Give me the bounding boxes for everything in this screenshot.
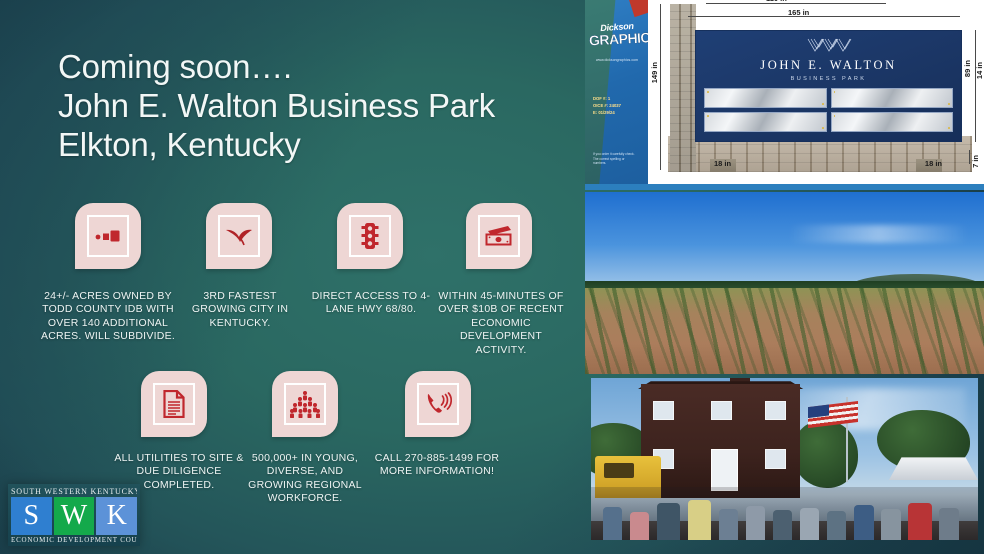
tenant-plate bbox=[831, 112, 954, 132]
vendor-spec-line-1: DOF #: 1 bbox=[593, 95, 621, 102]
dimension-label-base-gap: 7 in bbox=[971, 155, 980, 168]
feature-tile-utilities[interactable] bbox=[141, 371, 207, 437]
crowd-person bbox=[827, 511, 846, 540]
headline-line-3: Elkton, Kentucky bbox=[58, 125, 578, 164]
courthouse-window bbox=[765, 401, 786, 420]
dimension-line-top-inner bbox=[706, 3, 886, 4]
dimension-line-left-height bbox=[660, 4, 661, 170]
dickson-graphics-banner: Dickson GRAPHICS www.dicksongraphics.com… bbox=[585, 0, 648, 185]
stone-pillar bbox=[670, 4, 696, 172]
sign-rendering-image: Dickson GRAPHICS www.dicksongraphics.com… bbox=[585, 0, 984, 190]
render-bottom-band bbox=[585, 184, 984, 190]
feature-tile-workforce[interactable] bbox=[272, 371, 338, 437]
crowd-person bbox=[854, 505, 873, 540]
feature-caption-acres: 24+/- ACRES OWNED BY TODD COUNTY IDB WIT… bbox=[34, 290, 182, 344]
feature-tile-growth[interactable] bbox=[206, 203, 272, 269]
courthouse-window bbox=[711, 401, 732, 420]
people-group-icon bbox=[284, 383, 326, 425]
tenant-plate-grid bbox=[696, 82, 961, 132]
vendor-spec-line-2: OICE #: 24037 bbox=[593, 102, 621, 109]
feature-caption-growth: 3RD FASTEST GROWING CITY IN KENTUCKY. bbox=[176, 290, 304, 330]
crowd-person bbox=[908, 503, 931, 540]
phone-ringing-icon bbox=[417, 383, 459, 425]
crowd-person bbox=[746, 506, 765, 540]
vendor-spec-line-3: E: 01/29/24 bbox=[593, 109, 621, 116]
feature-caption-investment: WITHIN 45-MINUTES OF OVER $10B OF RECENT… bbox=[437, 290, 565, 357]
swk-letter-w: W bbox=[54, 497, 95, 535]
headline-line-1: Coming soon…. bbox=[58, 47, 578, 86]
page-title: Coming soon…. John E. Walton Business Pa… bbox=[58, 47, 578, 164]
crowd-person bbox=[719, 509, 738, 540]
dimension-label-top-inner: 110 in bbox=[766, 0, 787, 3]
site-field-photo bbox=[585, 192, 984, 374]
feature-tile-highway[interactable] bbox=[337, 203, 403, 269]
sign-face: JOHN E. WALTON BUSINESS PARK bbox=[695, 30, 962, 142]
swk-logo-bottom-text: ECONOMIC DEVELOPMENT COUNCIL bbox=[11, 535, 137, 546]
vendor-spec-block: DOF #: 1 OICE #: 24037 E: 01/29/24 bbox=[593, 95, 621, 116]
crowd-person bbox=[800, 508, 819, 540]
crowd-person bbox=[881, 509, 900, 540]
money-cash-icon bbox=[478, 215, 520, 257]
dickson-graphics-logo: Dickson GRAPHICS bbox=[589, 22, 645, 47]
tenant-plate bbox=[704, 112, 827, 132]
tenant-plate bbox=[831, 88, 954, 108]
dimension-label-right-detail: 14 in bbox=[975, 62, 984, 79]
festival-tree bbox=[792, 420, 858, 488]
dimension-line-top-outer bbox=[688, 16, 960, 17]
sign-elevation-drawing: JOHN E. WALTON BUSINESS PARK 110 in 165 … bbox=[648, 0, 984, 190]
feature-caption-contact: CALL 270-885-1499 FOR MORE INFORMATION! bbox=[374, 452, 500, 479]
swk-logo[interactable]: SOUTH WESTERN KENTUCKY S W K ECONOMIC DE… bbox=[8, 484, 140, 546]
vendor-note: If you order it carefully check. The cor… bbox=[593, 152, 635, 166]
right-media-column: Dickson GRAPHICS www.dicksongraphics.com… bbox=[585, 0, 984, 554]
tenant-plate bbox=[704, 88, 827, 108]
left-content-column: Coming soon…. John E. Walton Business Pa… bbox=[0, 0, 595, 554]
downtown-festival-photo bbox=[591, 378, 978, 540]
dimension-label-left-height: 149 in bbox=[650, 62, 659, 83]
dimension-label-footing-right: 18 in bbox=[925, 159, 942, 168]
feature-caption-highway: DIRECT ACCESS TO 4-LANE HWY 68/80. bbox=[308, 290, 434, 317]
dimension-line-right-height bbox=[975, 30, 976, 142]
crowd-person bbox=[603, 507, 622, 540]
swk-logo-letters: S W K bbox=[11, 497, 137, 535]
swk-letter-s: S bbox=[11, 497, 52, 535]
presentation-slide: Coming soon…. John E. Walton Business Pa… bbox=[0, 0, 984, 554]
vendor-tent bbox=[889, 457, 978, 480]
swk-logo-top-text: SOUTH WESTERN KENTUCKY bbox=[11, 486, 137, 497]
dimension-label-footing-left: 18 in bbox=[714, 159, 731, 168]
festival-crowd bbox=[591, 487, 978, 540]
feature-tile-investment[interactable] bbox=[466, 203, 532, 269]
crowd-person bbox=[630, 512, 649, 540]
swk-letter-k: K bbox=[96, 497, 137, 535]
crowd-person bbox=[773, 510, 792, 540]
crowd-person bbox=[657, 503, 680, 540]
land-parcel-icon bbox=[87, 215, 129, 257]
cloud-wisp bbox=[789, 225, 969, 243]
feature-tile-acres[interactable] bbox=[75, 203, 141, 269]
bird-growth-icon bbox=[218, 215, 260, 257]
courthouse-window bbox=[765, 449, 786, 468]
dimension-label-right-height: 89 in bbox=[963, 60, 972, 77]
courthouse-window bbox=[653, 401, 674, 420]
crop-field bbox=[585, 288, 984, 374]
crowd-person bbox=[939, 508, 958, 540]
vendor-name-line-2: GRAPHICS bbox=[589, 30, 646, 49]
courthouse-door bbox=[711, 449, 738, 491]
feature-caption-workforce: 500,000+ IN YOUNG, DIVERSE, AND GROWING … bbox=[241, 452, 369, 506]
traffic-light-icon bbox=[349, 215, 391, 257]
walton-monogram-icon bbox=[696, 38, 961, 55]
headline-line-2: John E. Walton Business Park bbox=[58, 86, 578, 125]
sign-park-name: JOHN E. WALTON bbox=[696, 58, 961, 73]
crowd-person bbox=[688, 500, 711, 540]
feature-tile-contact[interactable] bbox=[405, 371, 471, 437]
dimension-line-base-gap bbox=[969, 150, 970, 164]
dimension-label-top-outer: 165 in bbox=[788, 8, 809, 17]
document-icon bbox=[153, 383, 195, 425]
vendor-url: www.dicksongraphics.com bbox=[588, 58, 646, 62]
